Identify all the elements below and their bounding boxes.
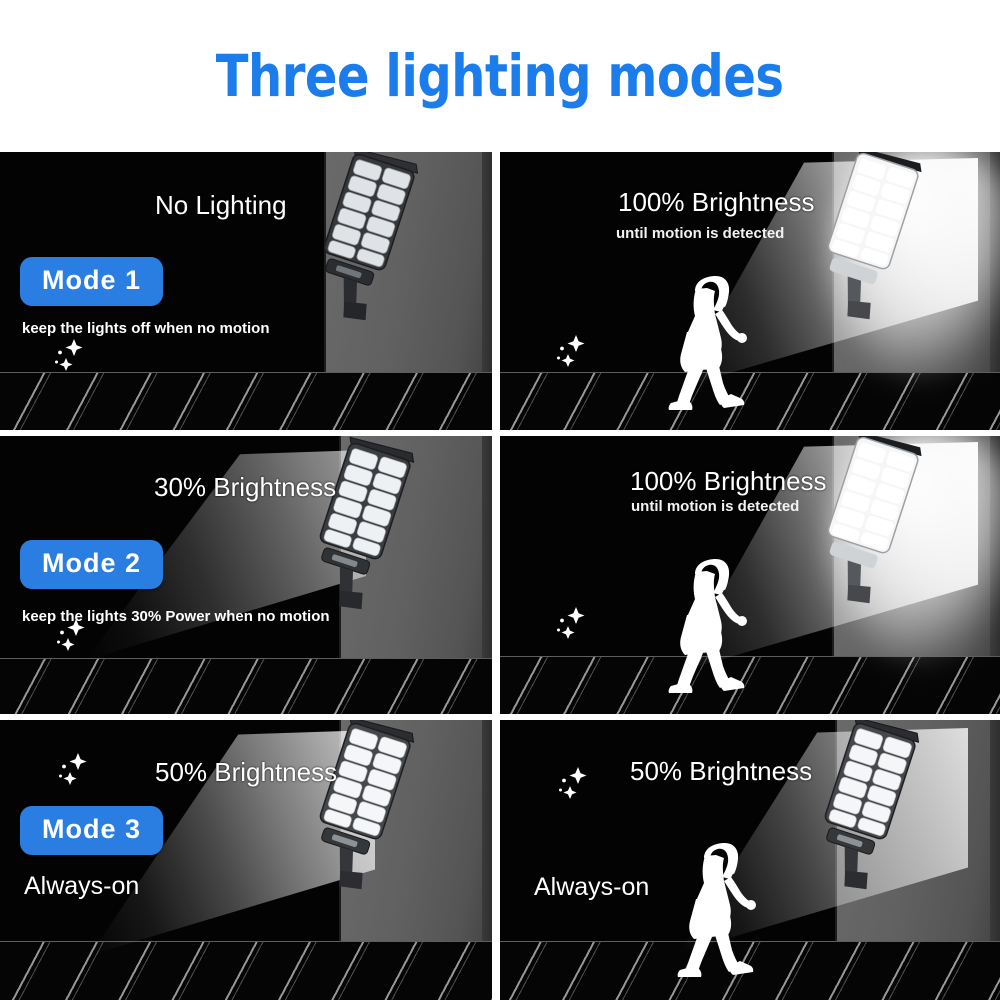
panel-mode-1-idle: No Lighting Mode 1 keep the lights off w… [0,152,492,430]
mode-panel-grid: No Lighting Mode 1 keep the lights off w… [0,152,1000,1000]
panel-mode-2-motion: 100% Brightness until motion is detected [500,436,1000,714]
mode-badge[interactable]: Mode 2 [20,540,163,589]
panel-text: No Lighting Mode 1 keep the lights off w… [0,152,492,430]
panel-headline: 50% Brightness [155,757,337,788]
panel-description: Always-on [534,873,649,902]
mode-badge[interactable]: Mode 1 [20,257,163,306]
panel-headline: 100% Brightness [618,187,815,218]
panel-mode-3-idle: 50% Brightness Mode 3 Always-on [0,720,492,1000]
panel-mode-3-motion: 50% Brightness Always-on [500,720,1000,1000]
panel-subline: until motion is detected [616,225,784,242]
title-bar: Three lighting modes [0,0,1000,152]
infographic-page: Three lighting modes [0,0,1000,1000]
panel-subline: until motion is detected [631,498,799,515]
page-title: Three lighting modes [216,42,784,110]
panel-text: 50% Brightness Mode 3 Always-on [0,720,492,1000]
moon-stars-icon [32,742,94,801]
panel-headline: No Lighting [155,190,287,221]
panel-text: 100% Brightness until motion is detected [500,152,1000,430]
moon-stars-icon [530,596,592,655]
panel-description: keep the lights 30% Power when no motion [22,608,330,625]
panel-headline: 100% Brightness [630,466,827,497]
panel-headline: 30% Brightness [154,472,336,503]
panel-description: keep the lights off when no motion [22,320,270,337]
panel-text: 100% Brightness until motion is detected [500,436,1000,714]
moon-stars-icon [530,324,592,383]
panel-text: 50% Brightness Always-on [500,720,1000,1000]
mode-badge[interactable]: Mode 3 [20,806,163,855]
panel-text: 30% Brightness Mode 2 keep the lights 30… [0,436,492,714]
panel-headline: 50% Brightness [630,756,812,787]
panel-mode-2-idle: 30% Brightness Mode 2 keep the lights 30… [0,436,492,714]
panel-description: Always-on [24,872,139,901]
panel-mode-1-motion: 100% Brightness until motion is detected [500,152,1000,430]
moon-stars-icon [532,756,594,815]
